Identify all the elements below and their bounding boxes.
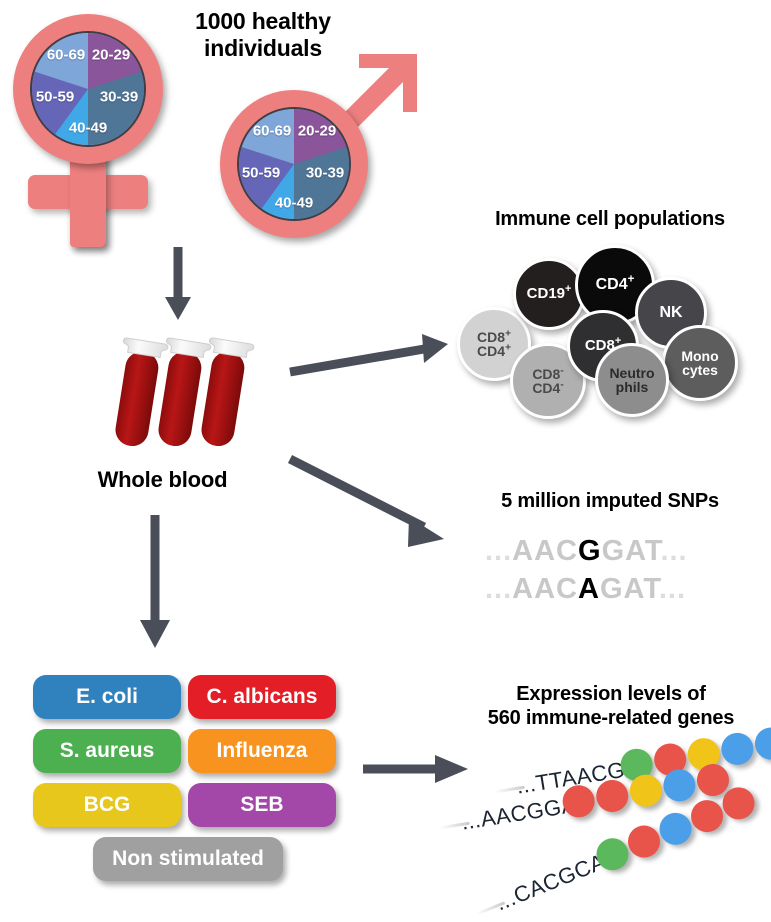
- cell-label: Neutrophils: [609, 366, 654, 395]
- cell-label: CD4+: [596, 277, 635, 293]
- cohort-title-line1: 1000 healthy: [168, 8, 358, 35]
- snp-allele-1: ...AACGGAT...: [485, 535, 688, 568]
- stimulus-s-aureus[interactable]: S. aureus: [33, 729, 181, 773]
- arrow-to-stimuli: [135, 515, 179, 650]
- expression-title-line1: Expression levels of: [455, 683, 767, 707]
- cell-label: CD8+ CD4+: [477, 330, 511, 359]
- immune-cell-cluster: CD8+ CD4+ CD8- CD4- CD19+ CD4+ CD8+ NK N…: [455, 245, 765, 410]
- stimuli-panel: E. coli C. albicans S. aureus Influenza …: [33, 675, 343, 890]
- snps-title: 5 million imputed SNPs: [455, 490, 765, 514]
- snp-allele-2: ...AACAGAT...: [485, 573, 686, 606]
- pie-label-40-49: 40-49: [275, 195, 313, 212]
- arrow-cohort-to-blood: [158, 247, 198, 322]
- cell-label: NK: [659, 305, 682, 321]
- immune-cell-monocytes[interactable]: Monocytes: [662, 325, 738, 401]
- expression-bead: [753, 725, 771, 762]
- cell-label: Monocytes: [681, 349, 718, 378]
- snp-variant-a: A: [578, 573, 600, 605]
- snp-prefix: ...: [485, 535, 512, 567]
- pie-label-50-59: 50-59: [242, 165, 280, 182]
- whole-blood-label: Whole blood: [75, 467, 250, 493]
- pie-label-40-49: 40-49: [69, 120, 107, 137]
- immune-cell-neutrophils[interactable]: Neutrophils: [595, 343, 669, 417]
- stimulus-c-albicans[interactable]: C. albicans: [188, 675, 336, 719]
- pie-label-20-29: 20-29: [92, 47, 130, 64]
- pie-label-60-69: 60-69: [47, 47, 85, 64]
- arrow-to-immune-cells: [288, 330, 458, 385]
- cell-label: CD8- CD4-: [532, 367, 563, 396]
- stimulus-influenza[interactable]: Influenza: [188, 729, 336, 773]
- arrow-to-snps: [288, 455, 468, 565]
- male-symbol: 20-29 30-39 40-49 50-59 60-69: [215, 85, 430, 260]
- snp-prefix: ...: [485, 573, 512, 605]
- stimulus-non-stimulated[interactable]: Non stimulated: [93, 837, 283, 881]
- immune-cell-cd19[interactable]: CD19+: [513, 258, 585, 330]
- cell-label: CD19+: [527, 286, 572, 301]
- female-symbol: 20-29 30-39 40-49 50-59 60-69: [8, 12, 188, 252]
- gene-strands: ...TTAACGG ...AACGGAT ...CACGCAA: [440, 745, 770, 910]
- snp-suffix: ...: [660, 535, 687, 567]
- pie-label-30-39: 30-39: [306, 165, 344, 182]
- expression-title: Expression levels of 560 immune-related …: [455, 683, 767, 730]
- immune-title: Immune cell populations: [455, 208, 765, 232]
- stimulus-seb[interactable]: SEB: [188, 783, 336, 827]
- stimulus-bcg[interactable]: BCG: [33, 783, 181, 827]
- expression-bead: [719, 731, 756, 768]
- figure-canvas: 1000 healthy individuals 20-29 30: [0, 0, 771, 922]
- snp-left: AAC: [512, 535, 578, 567]
- snp-left: AAC: [512, 573, 578, 605]
- pie-label-20-29: 20-29: [298, 123, 336, 140]
- expression-title-line2: 560 immune-related genes: [455, 707, 767, 731]
- blood-tubes: [100, 335, 260, 465]
- snp-suffix: ...: [659, 573, 686, 605]
- snp-right: GAT: [600, 573, 659, 605]
- pie-label-60-69: 60-69: [253, 123, 291, 140]
- pie-label-30-39: 30-39: [100, 89, 138, 106]
- stimulus-e-coli[interactable]: E. coli: [33, 675, 181, 719]
- snp-right: GAT: [602, 535, 661, 567]
- pie-label-50-59: 50-59: [36, 89, 74, 106]
- snp-variant-g: G: [578, 535, 602, 567]
